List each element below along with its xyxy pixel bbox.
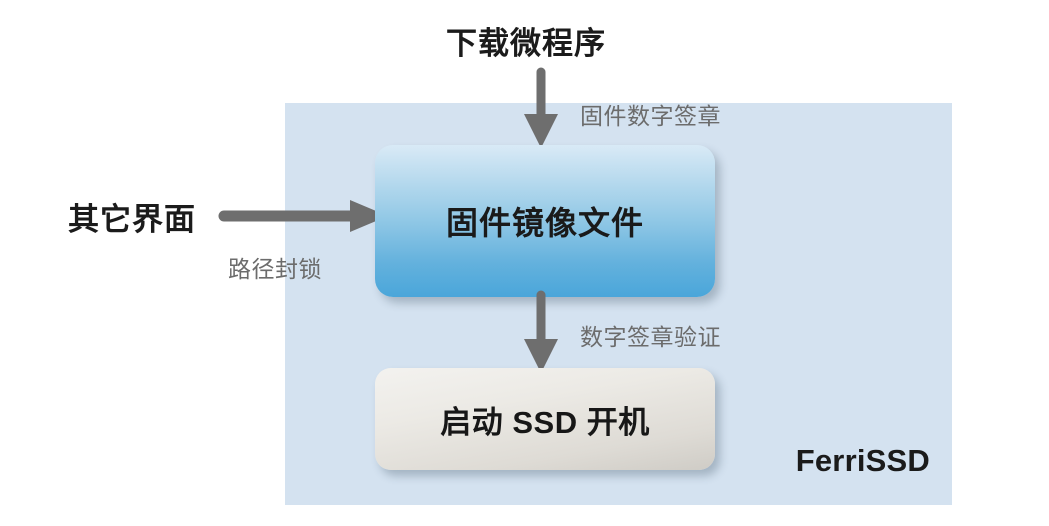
firmware-signature-label: 固件数字签章 (580, 97, 721, 131)
download-microprogram-heading: 下载微程序 (446, 18, 606, 63)
path-lockdown-label: 路径封锁 (228, 250, 322, 284)
ferrissd-panel-label: FerriSSD (796, 443, 930, 479)
boot-ssd-node-label: 启动 SSD 开机 (440, 397, 649, 442)
firmware-image-node-label: 固件镜像文件 (446, 198, 644, 244)
arrow-down-icon-top (518, 68, 564, 150)
arrow-right-icon (218, 198, 390, 234)
arrow-down-icon-bottom (518, 293, 564, 375)
firmware-image-node: 固件镜像文件 (375, 145, 715, 297)
boot-ssd-node: 启动 SSD 开机 (375, 368, 715, 470)
other-interface-heading: 其它界面 (68, 194, 196, 239)
signature-verification-label: 数字签章验证 (580, 318, 721, 352)
diagram-canvas: FerriSSD 下载微程序 其它界面 固件数字签章 路径封锁 固件镜像文件 数… (0, 0, 1049, 526)
